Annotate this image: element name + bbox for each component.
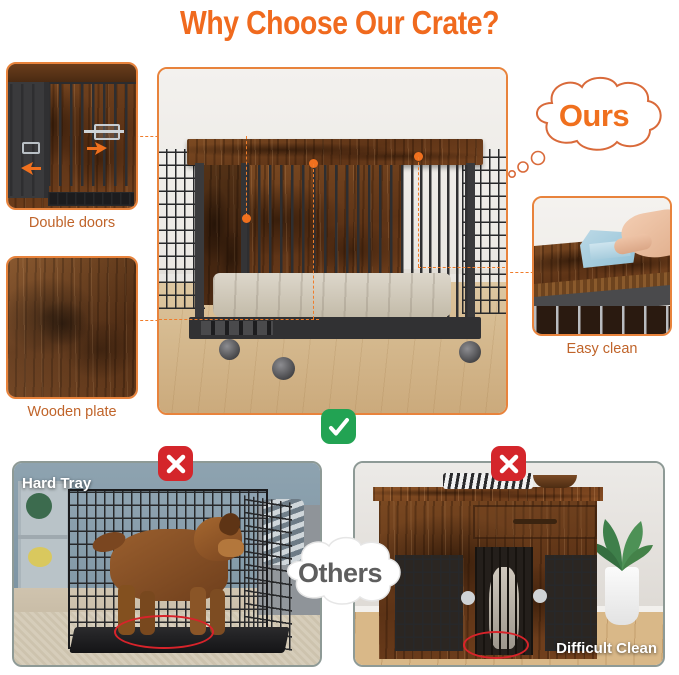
- potted-plant-leaves: [589, 511, 655, 573]
- feature-panel-wooden-plate: [6, 256, 138, 399]
- crate-left-bars: [10, 84, 42, 196]
- wood-grain-sheen: [8, 258, 136, 397]
- check-badge: [321, 409, 356, 444]
- x-badge-difficult-clean: [491, 446, 526, 481]
- shelf-flowers: [28, 547, 52, 567]
- door-latch-a: [461, 591, 475, 605]
- caster-wheel-front-mid: [272, 357, 295, 380]
- difficult-clean-highlight-ring: [463, 631, 529, 659]
- caster-wheel-front-left: [219, 339, 240, 360]
- arrow-icon-right: [86, 140, 108, 156]
- door-latch-right-bar: [84, 130, 124, 133]
- feature-panel-double-doors: [6, 62, 138, 210]
- x-badge-hard-tray: [158, 446, 193, 481]
- hard-tray-highlight-ring: [114, 615, 214, 649]
- crate-furniture-handle: [513, 519, 557, 524]
- feature-panel-easy-clean: [532, 196, 672, 336]
- door-latch-left: [22, 142, 40, 154]
- callout-line-right-h: [418, 267, 508, 268]
- others-bubble: Others: [272, 533, 408, 613]
- crate-top-edge: [8, 64, 136, 84]
- arrow-icon-left: [20, 160, 42, 176]
- callout-line-mid: [313, 164, 314, 319]
- callout-line-bottom: [159, 319, 319, 320]
- difficult-clean-label: Difficult Clean: [556, 640, 657, 657]
- tabletop-bowl: [533, 475, 577, 488]
- feature-caption-double-doors: Double doors: [6, 215, 138, 231]
- callout-line-left: [246, 136, 247, 216]
- main-product-panel: [157, 67, 508, 415]
- crate-bars-below-top: [534, 306, 670, 334]
- hard-tray-label: Hard Tray: [22, 475, 91, 492]
- feature-caption-wooden-plate: Wooden plate: [6, 404, 138, 420]
- dog-snout: [218, 539, 244, 557]
- right-door-mesh: [545, 555, 597, 651]
- page-title: Why Choose Our Crate?: [48, 4, 632, 42]
- ours-bubble-label: Ours: [518, 73, 670, 158]
- door-latch-b: [533, 589, 547, 603]
- shelf-divider: [18, 535, 70, 539]
- callout-line-right: [418, 157, 419, 267]
- crate-furniture-top: [373, 487, 603, 501]
- crate-base-slots: [201, 321, 273, 335]
- crate-door-bars: [48, 84, 134, 186]
- crate-frame-post-left: [195, 163, 204, 323]
- infographic-root: Why Choose Our Crate? Double doors: [0, 0, 679, 675]
- ours-bubble: Ours: [518, 73, 670, 158]
- crate-bottom-grid: [48, 192, 134, 206]
- potted-plant-pot: [605, 567, 639, 625]
- x-icon: [497, 452, 521, 476]
- crate-vertical-post: [44, 82, 49, 198]
- crate-cushion: [213, 273, 451, 317]
- crate-wood-top: [187, 139, 483, 165]
- feature-caption-easy-clean: Easy clean: [532, 341, 672, 357]
- caster-wheel-right: [459, 341, 481, 363]
- others-bubble-label: Others: [272, 533, 408, 613]
- check-icon: [327, 415, 351, 439]
- crate-body: [195, 139, 475, 337]
- x-icon: [164, 452, 188, 476]
- shelf-plant: [26, 493, 52, 519]
- ours-bubble-trail: [508, 150, 552, 180]
